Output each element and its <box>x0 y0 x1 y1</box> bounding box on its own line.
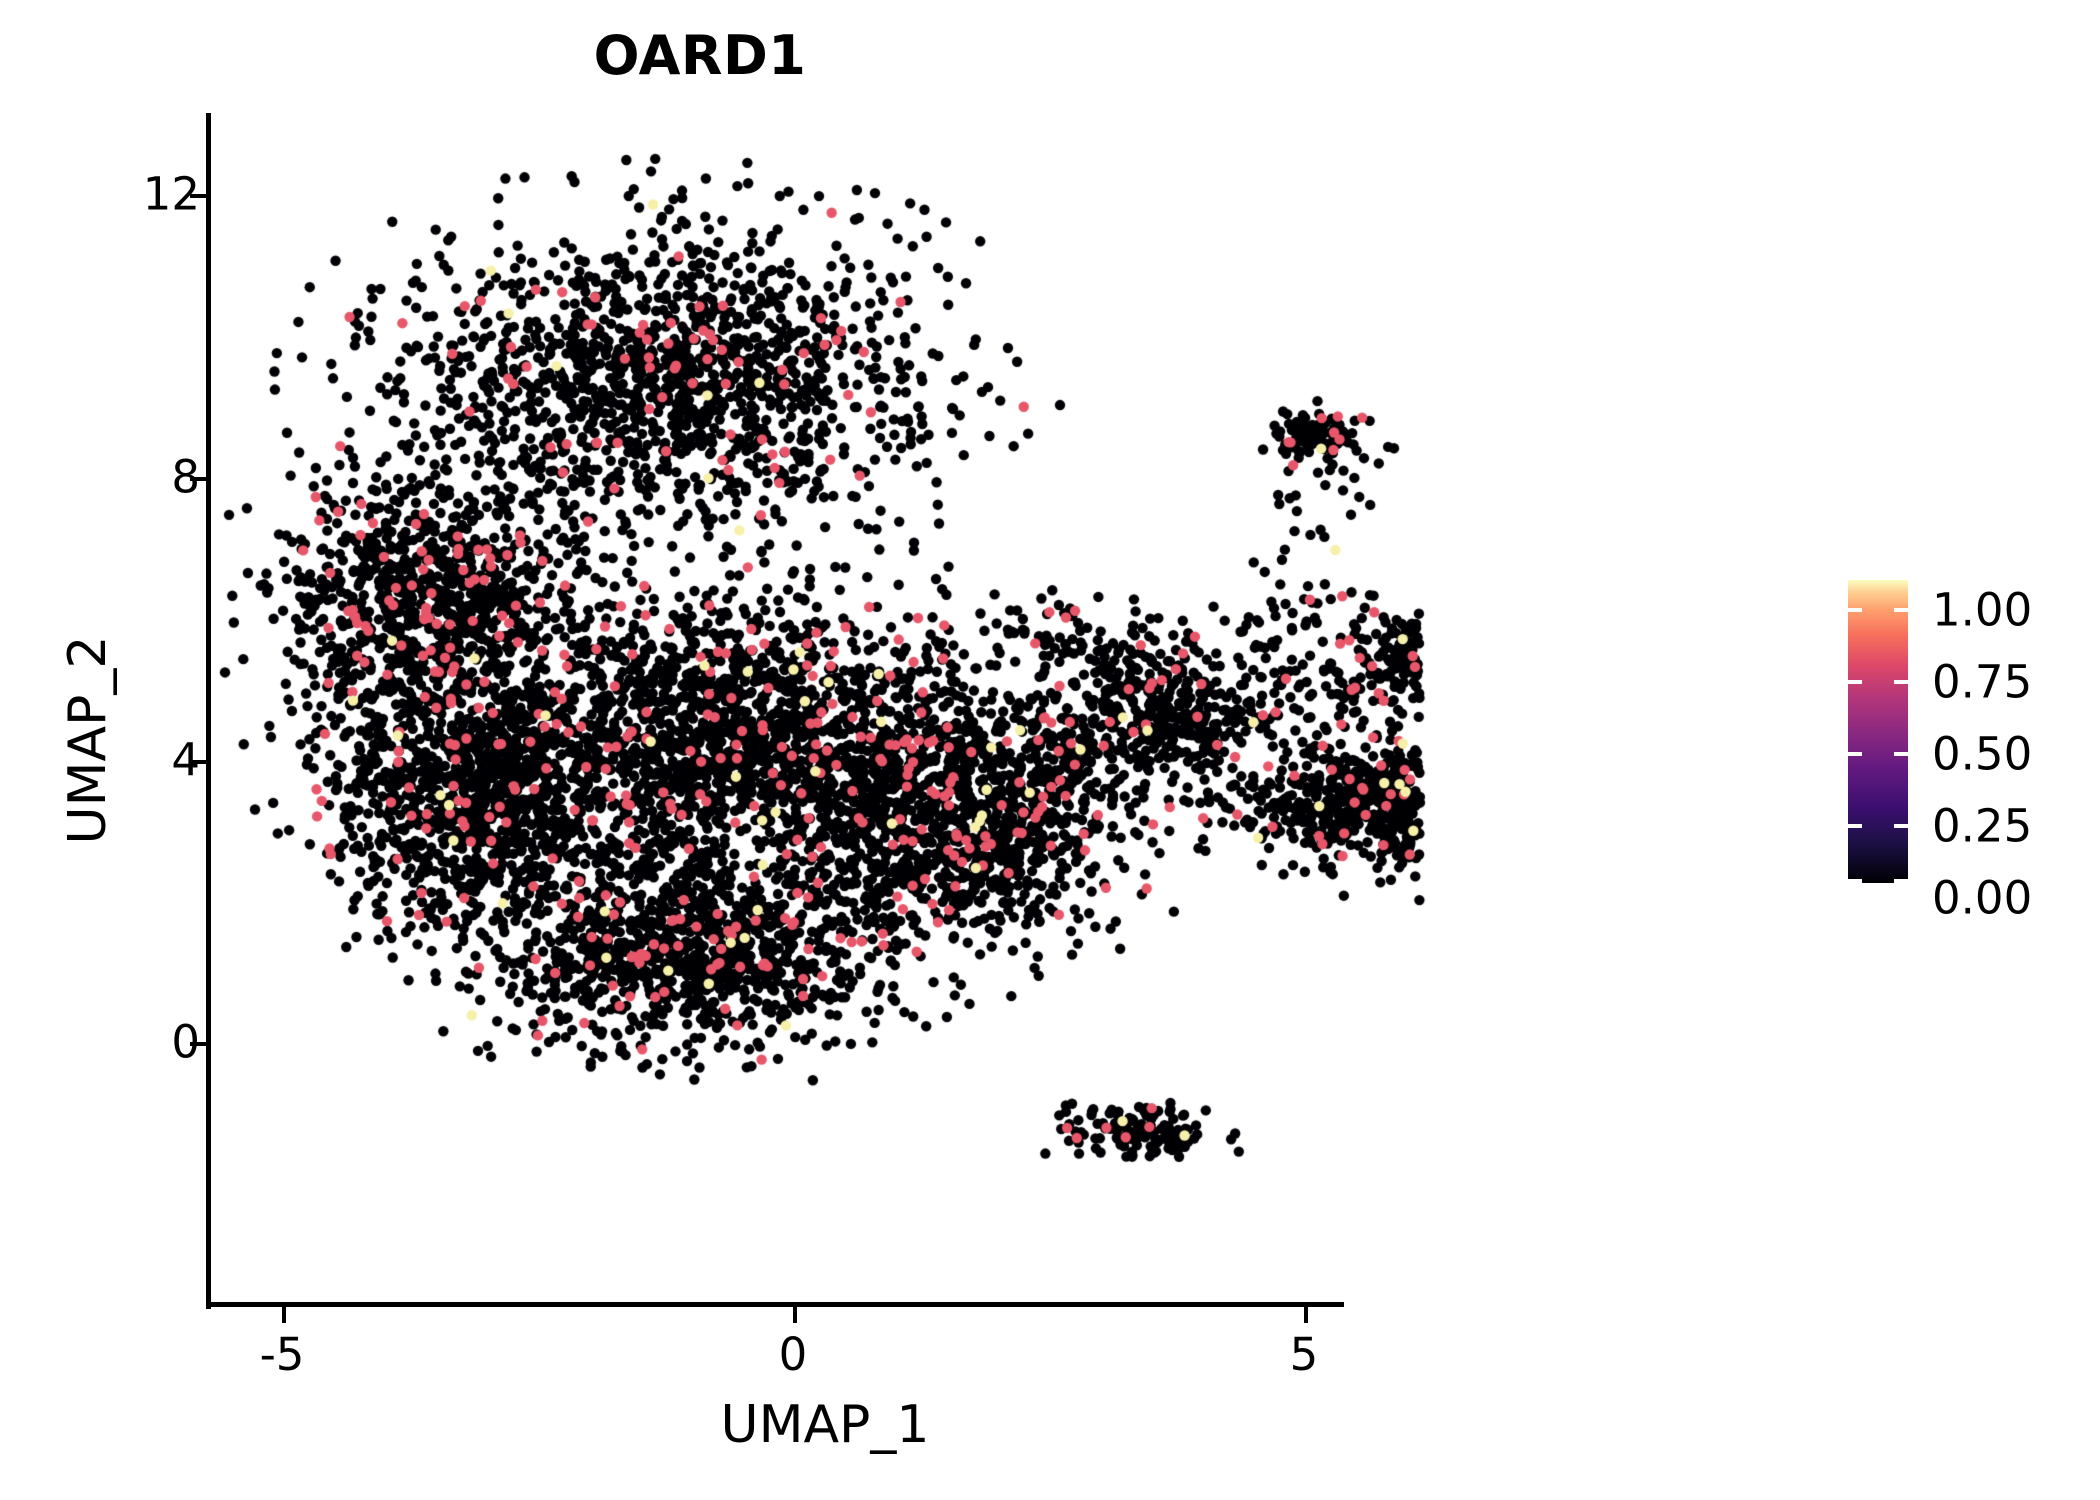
colorbar-label-1-00: 1.00 <box>1932 584 2032 637</box>
x-axis-line <box>206 1302 1344 1307</box>
colorbar-tick-1-00-right <box>1894 608 1908 612</box>
colorbar-tick-0-25-right <box>1894 824 1908 828</box>
y-tick-label-4: 4 <box>171 734 200 787</box>
colorbar-tick-0-25-left <box>1848 824 1862 828</box>
x-tick-label-0: 0 <box>779 1328 808 1381</box>
colorbar-tick-1-00-left <box>1848 608 1862 612</box>
colorbar-label-0-75: 0.75 <box>1932 656 2032 709</box>
colorbar-tick-0-75-right <box>1894 680 1908 684</box>
umap-scatter-figure: OARD1 12 8 4 0 -5 0 5 UMAP_2 UMAP_1 1.00… <box>0 0 2100 1500</box>
y-axis-title: UMAP_2 <box>58 440 118 1040</box>
y-tick-label-12: 12 <box>143 168 200 221</box>
colorbar-tick-0-75-left <box>1848 680 1862 684</box>
x-tick-mark-5 <box>1304 1307 1308 1323</box>
x-tick-label-5: 5 <box>1290 1328 1319 1381</box>
colorbar-tick-0-00-right <box>1894 879 1908 883</box>
colorbar-label-0-50: 0.50 <box>1932 728 2032 781</box>
x-tick-mark-minus5 <box>282 1307 286 1323</box>
y-tick-label-0: 0 <box>171 1016 200 1069</box>
colorbar-label-0-00: 0.00 <box>1932 872 2032 925</box>
y-axis-line <box>206 113 211 1309</box>
x-axis-title: UMAP_1 <box>475 1395 1175 1455</box>
y-tick-label-8: 8 <box>171 451 200 504</box>
x-tick-mark-0 <box>793 1307 797 1323</box>
colorbar-gradient <box>1848 580 1908 883</box>
scatter-plot-area[interactable] <box>0 0 2100 1500</box>
colorbar-label-0-25: 0.25 <box>1932 800 2032 853</box>
colorbar-tick-0-50-right <box>1894 752 1908 756</box>
x-tick-label-minus5: -5 <box>260 1328 305 1381</box>
colorbar-tick-0-50-left <box>1848 752 1862 756</box>
colorbar-tick-0-00-left <box>1848 879 1862 883</box>
